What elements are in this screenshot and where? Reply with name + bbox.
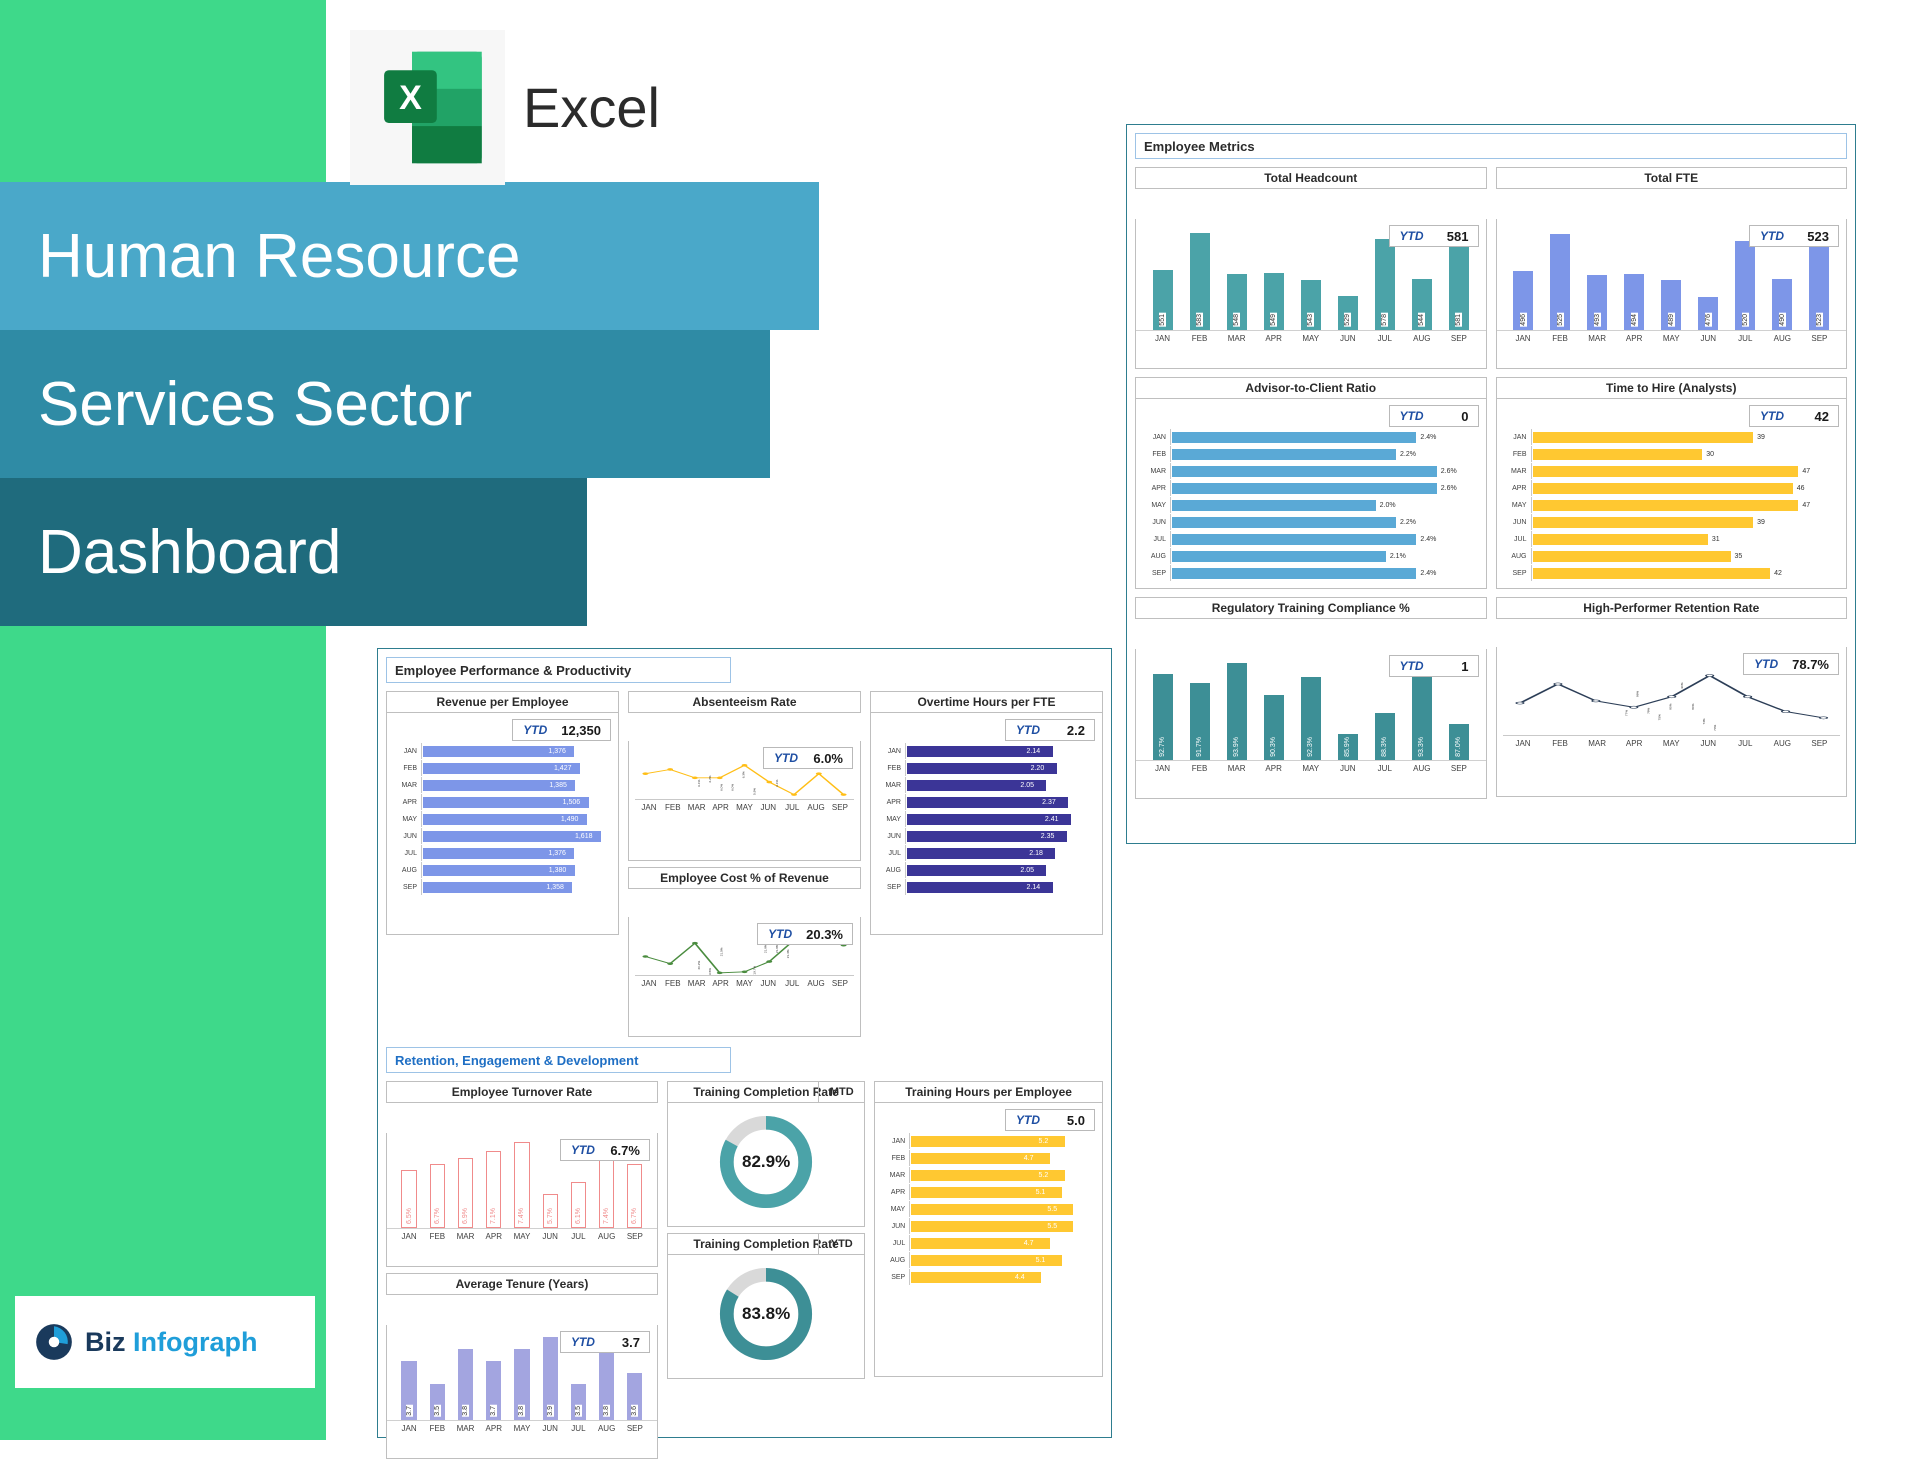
bar: 3.8 (458, 1349, 473, 1420)
ytd-badge: YTD 2.2 (1005, 719, 1095, 741)
bar-value-label: 5.1 (1036, 1189, 1046, 1196)
ytd-badge: YTD 0 (1389, 405, 1479, 427)
bar-value-label: 3.7 (490, 1405, 497, 1417)
bar-row: AUG 5.1 (881, 1252, 1094, 1268)
dashboard-title-line-2: Services Sector (0, 330, 770, 478)
chart-card-absenteeism-rate: Absenteeism Rate YTD 6.0% 6.1%6.2%6.0%6.… (628, 691, 861, 861)
chart-card-high-performer-retention-rate: High-Performer Retention Rate YTD 78.7% … (1496, 597, 1848, 799)
category-label: JAN (877, 748, 905, 755)
bar-value-label: 1,376 (548, 748, 566, 755)
bar-value-label: 87.0% (1455, 737, 1462, 757)
point-value-label: 6.2% (708, 775, 712, 782)
bar (1172, 568, 1416, 579)
bar: 3.5 (430, 1384, 445, 1420)
bar-column: 3.5 (425, 1325, 450, 1420)
chart-area: YTD 581 551 583 548 549 543 529 578 (1135, 219, 1487, 369)
bar: 92.7% (1153, 674, 1173, 760)
bar: 93.9% (1227, 663, 1247, 760)
bar-row: AUG 35 (1503, 548, 1839, 564)
point-value-label: 21.8% (775, 944, 779, 953)
x-axis-tick: MAR (453, 1232, 478, 1241)
bar-row: MAY 1,490 (393, 811, 610, 827)
x-axis: JANFEBMARAPRMAYJUNJULAUGSEP (629, 800, 860, 817)
category-label: JUL (1503, 536, 1531, 543)
bar-value-label: 7.1% (490, 1208, 497, 1224)
bar (1533, 534, 1708, 545)
bar-column: 91.7% (1183, 649, 1216, 760)
category-label: JAN (1503, 434, 1531, 441)
bar: 551 (1153, 270, 1173, 330)
excel-branding: X Excel (350, 30, 660, 185)
chart-title: Employee Cost % of Revenue (628, 867, 861, 889)
bar (1533, 483, 1793, 494)
bar (1533, 466, 1799, 477)
point-value-label: 19.5% (708, 968, 712, 975)
bar-row: SEP 42 (1503, 565, 1839, 581)
bar-track: 39 (1531, 514, 1839, 530)
category-label: MAR (877, 782, 905, 789)
bar-value-label: 3.9 (547, 1405, 554, 1417)
category-label: JAN (1142, 434, 1170, 441)
bar-row: JUL 2.18 (877, 845, 1094, 861)
bar-column: 92.3% (1294, 649, 1327, 760)
bars-container: JAN 1,376 FEB 1,427 MAR 1,385 APR 1,506 … (387, 713, 618, 900)
bars-container: JAN 39 FEB 30 MAR 47 APR 46 MAY (1497, 399, 1847, 586)
x-axis-tick: JUL (781, 803, 803, 812)
bar-value-label: 1,427 (554, 765, 572, 772)
category-label: MAY (1503, 502, 1531, 509)
point-value-label: 73% (1702, 718, 1706, 724)
category-label: MAR (881, 1172, 909, 1179)
bar-value-label: 47 (1802, 468, 1810, 475)
point-value-label: 80% (1668, 703, 1672, 709)
bar-track: 30 (1531, 446, 1839, 462)
bar: 494 (1624, 274, 1644, 330)
chart-area: YTD 6.7% 6.5% 6.7% 6.9% 7.1% 7.4% 5.7% 6… (386, 1133, 658, 1267)
chart-area: YTD 523 496 525 493 494 489 476 520 (1496, 219, 1848, 369)
bar: 3.8 (599, 1349, 614, 1420)
chart-card-advisor-to-client-ratio: Advisor-to-Client Ratio YTD 0 JAN 2.4% F… (1135, 377, 1487, 589)
x-axis-tick: APR (710, 803, 732, 812)
ytd-badge: YTD 5.0 (1005, 1109, 1095, 1131)
ytd-badge: YTD 6.7% (560, 1139, 650, 1161)
category-label: MAY (393, 816, 421, 823)
x-axis-tick: JAN (1146, 334, 1179, 343)
x-axis-tick: MAR (1580, 334, 1613, 343)
bar: 6.7% (430, 1164, 445, 1228)
bar-track: 31 (1531, 531, 1839, 547)
bar-column: 476 (1692, 219, 1725, 330)
category-label: SEP (877, 884, 905, 891)
bar-row: MAR 1,385 (393, 777, 610, 793)
x-axis-tick: MAY (509, 1232, 534, 1241)
x-axis-tick: MAY (1655, 334, 1688, 343)
bar-value-label: 7.4% (603, 1208, 610, 1224)
bar-track: 2.2% (1170, 514, 1478, 530)
bar-value-label: 548 (1233, 313, 1240, 327)
ytd-label: YTD (764, 751, 808, 765)
bar-row: JUN 5.5 (881, 1218, 1094, 1234)
bar-row: JUN 2.2% (1142, 514, 1478, 530)
ytd-label: YTD (1750, 229, 1794, 243)
x-axis-tick: MAY (1655, 739, 1688, 748)
ytd-badge: YTD 12,350 (512, 719, 611, 741)
point-value-label: 19.7% (753, 966, 757, 975)
x-axis-tick: JUN (538, 1424, 563, 1433)
bar-track: 35 (1531, 548, 1839, 564)
category-label: JUN (877, 833, 905, 840)
chart-title: Absenteeism Rate (628, 691, 861, 713)
ytd-badge: YTD 3.7 (560, 1331, 650, 1353)
category-label: FEB (877, 765, 905, 772)
bar-row: SEP 2.4% (1142, 565, 1478, 581)
donut-center-value: 83.8% (717, 1265, 815, 1363)
bar: 3.7 (486, 1361, 501, 1420)
chart-title: Training Completion Rate MTD (667, 1081, 865, 1103)
chart-card-time-to-hire-analysts: Time to Hire (Analysts) YTD 42 JAN 39 FE… (1496, 377, 1848, 589)
bar-value-label: 2.05 (1020, 782, 1034, 789)
x-axis-tick: MAY (1294, 334, 1327, 343)
x-axis: JANFEBMARAPRMAYJUNJULAUGSEP (387, 1229, 657, 1246)
bar-value-label: 3.8 (462, 1405, 469, 1417)
training-completion-stack: Training Completion Rate MTD 82.9% Train… (667, 1081, 865, 1459)
chart-card-training-completion-rate-ytd: Training Completion Rate YTD 83.8% (667, 1233, 865, 1379)
ytd-label: YTD (1744, 657, 1788, 671)
x-axis: JANFEBMARAPRMAYJUNJULAUGSEP (1497, 736, 1847, 753)
bar-value-label: 92.7% (1159, 737, 1166, 757)
bar-row: MAY 5.5 (881, 1201, 1094, 1217)
bar: 489 (1661, 280, 1681, 330)
chart-card-employee-turnover-rate: Employee Turnover Rate YTD 6.7% 6.5% 6.7… (386, 1081, 658, 1267)
title-line-1-text: Human Resource (0, 221, 520, 292)
x-axis-tick: JAN (396, 1424, 421, 1433)
bar: 3.5 (571, 1384, 586, 1420)
x-axis-tick: APR (1617, 334, 1650, 343)
x-axis-tick: JUN (1692, 334, 1725, 343)
bar: 88.3% (1375, 713, 1395, 760)
bar-track: 5.2 (909, 1133, 1094, 1149)
bar-track: 2.05 (905, 777, 1094, 793)
chart-card-overtime-hours-per-fte: Overtime Hours per FTE YTD 2.2 JAN 2.14 … (870, 691, 1103, 1037)
chart-title: Advisor-to-Client Ratio (1135, 377, 1487, 399)
bar-value-label: 543 (1307, 313, 1314, 327)
bar-row: JAN 2.4% (1142, 429, 1478, 445)
ytd-value: 20.3% (802, 927, 852, 942)
chart-title: Revenue per Employee (386, 691, 619, 713)
bar-column: 6.7% (425, 1133, 450, 1228)
bar-row: FEB 2.2% (1142, 446, 1478, 462)
logo-biz-text: Biz (85, 1327, 126, 1357)
bar-track: 2.05 (905, 862, 1094, 878)
bar-value-label: 1,385 (549, 782, 567, 789)
x-axis-tick: JAN (638, 803, 660, 812)
bar-row: JUL 1,376 (393, 845, 610, 861)
bar-value-label: 3.6 (631, 1405, 638, 1417)
ytd-badge: YTD 42 (1749, 405, 1839, 427)
ytd-badge: YTD 6.0% (763, 747, 853, 769)
bar-row: FEB 2.20 (877, 760, 1094, 776)
bar-value-label: 2.20 (1031, 765, 1045, 772)
bar-value-label: 92.3% (1307, 737, 1314, 757)
point-value-label: 6.0% (719, 784, 723, 791)
bar-value-label: 2.35 (1041, 833, 1055, 840)
bar-value-label: 2.2% (1400, 519, 1416, 526)
x-axis-tick: AUG (594, 1232, 619, 1241)
category-label: JUL (1142, 536, 1170, 543)
x-axis-tick: JUN (1331, 334, 1364, 343)
bar-value-label: 6.5% (406, 1208, 413, 1224)
x-axis-tick: SEP (829, 979, 851, 988)
chart-card-revenue-per-employee: Revenue per Employee YTD 12,350 JAN 1,37… (386, 691, 619, 1037)
bar-value-label: 1,376 (548, 850, 566, 857)
pie-logo-icon (33, 1321, 75, 1363)
bar-row: APR 46 (1503, 480, 1839, 496)
x-axis-tick: JUL (1729, 739, 1762, 748)
bar-value-label: 90.3% (1270, 737, 1277, 757)
bar-value-label: 3.8 (603, 1405, 610, 1417)
bar-column: 494 (1617, 219, 1650, 330)
bar-value-label: 93.9% (1233, 737, 1240, 757)
x-axis-tick: AUG (1405, 334, 1438, 343)
bar-track: 1,427 (421, 760, 610, 776)
bar-value-label: 88.3% (1381, 737, 1388, 757)
category-label: JUL (393, 850, 421, 857)
ytd-badge: YTD 581 (1389, 225, 1479, 247)
category-label: APR (1142, 485, 1170, 492)
bar-value-label: 2.2% (1400, 451, 1416, 458)
bar-row: MAR 47 (1503, 463, 1839, 479)
bar-row: MAY 47 (1503, 497, 1839, 513)
bar-track: 2.4% (1170, 565, 1478, 581)
bar-track: 5.1 (909, 1252, 1094, 1268)
ytd-value: 12,350 (557, 723, 610, 738)
x-axis: JANFEBMARAPRMAYJUNJULAUGSEP (629, 976, 860, 993)
bar-column: 529 (1331, 219, 1364, 330)
x-axis-tick: FEB (1543, 739, 1576, 748)
bar (1533, 568, 1771, 579)
ytd-label: YTD (1390, 659, 1434, 673)
bar-column: 6.9% (453, 1133, 478, 1228)
retention-section-title: Retention, Engagement & Development (395, 1053, 638, 1068)
x-axis-tick: SEP (1803, 334, 1836, 343)
bar-row: JUL 2.4% (1142, 531, 1478, 547)
x-axis-tick: JAN (1146, 764, 1179, 773)
point-value-label: 75% (1657, 714, 1661, 720)
category-label: JUN (393, 833, 421, 840)
bar-track: 47 (1531, 497, 1839, 513)
point-value-label: 77% (1624, 710, 1628, 716)
ytd-value: 1 (1434, 659, 1478, 674)
bar-row: JAN 1,376 (393, 743, 610, 759)
bar-column: 489 (1655, 219, 1688, 330)
chart-card-total-headcount: Total Headcount YTD 581 551 583 548 549 … (1135, 167, 1487, 369)
ytd-value: 3.7 (605, 1335, 649, 1350)
bar-track: 2.14 (905, 743, 1094, 759)
x-axis-tick: JUL (1729, 334, 1762, 343)
x-axis-tick: FEB (425, 1424, 450, 1433)
bar: 3.8 (514, 1349, 529, 1420)
bar-value-label: 5.7% (547, 1208, 554, 1224)
bar-track: 2.4% (1170, 531, 1478, 547)
chart-area: YTD 3.7 3.7 3.5 3.8 3.7 3.8 3.9 3.5 (386, 1325, 658, 1459)
bar (1172, 466, 1437, 477)
bar: 544 (1412, 279, 1432, 330)
category-label: MAY (877, 816, 905, 823)
chart-title: High-Performer Retention Rate (1496, 597, 1848, 619)
bar (1172, 432, 1416, 443)
bar-value-label: 39 (1757, 434, 1765, 441)
bars-container: JAN 2.4% FEB 2.2% MAR 2.6% APR 2.6% MAY (1136, 399, 1486, 586)
bar-track: 2.0% (1170, 497, 1478, 513)
bar-value-label: 1,618 (575, 833, 593, 840)
bar-value-label: 93.3% (1418, 737, 1425, 757)
bar-track: 2.37 (905, 794, 1094, 810)
x-axis-tick: AUG (1766, 334, 1799, 343)
bar-value-label: 2.1% (1390, 553, 1406, 560)
bar-column: 93.9% (1220, 649, 1253, 760)
chart-area: YTD 6.0% 6.1%6.2%6.0%6.0%6.3%5.9%5.6%6.1… (628, 741, 861, 861)
ytd-label: YTD (1390, 409, 1434, 423)
chart-area: YTD 42 JAN 39 FEB 30 MAR 47 APR 46 MAY (1496, 399, 1848, 589)
bar-column: 548 (1220, 219, 1253, 330)
bar-column: 7.1% (481, 1133, 506, 1228)
x-axis-tick: JUL (1368, 334, 1401, 343)
performance-section-header: Employee Performance & Productivity (386, 657, 731, 683)
x-axis-tick: JUN (1331, 764, 1364, 773)
x-axis-tick: SEP (622, 1232, 647, 1241)
bar: 3.9 (543, 1337, 558, 1420)
x-axis-tick: MAR (453, 1424, 478, 1433)
category-label: JAN (881, 1138, 909, 1145)
point-value-label: 6.1% (697, 779, 701, 786)
category-label: FEB (1142, 451, 1170, 458)
x-axis: JANFEBMARAPRMAYJUNJULAUGSEP (1497, 331, 1847, 348)
x-axis-tick: AUG (805, 979, 827, 988)
point-value-label: 78% (1646, 707, 1650, 713)
bar-value-label: 7.4% (518, 1208, 525, 1224)
bar (1172, 449, 1396, 460)
category-label: APR (881, 1189, 909, 1196)
bar-value-label: 1,358 (546, 884, 564, 891)
x-axis-tick: JUN (758, 803, 780, 812)
bar-track: 4.4 (909, 1269, 1094, 1285)
x-axis-tick: JAN (396, 1232, 421, 1241)
bar (1172, 551, 1386, 562)
x-axis-tick: JUN (758, 979, 780, 988)
chart-area: YTD 0 JAN 2.4% FEB 2.2% MAR 2.6% APR 2.6… (1135, 399, 1487, 589)
bar: 3.7 (401, 1361, 416, 1420)
bar-column: 92.7% (1146, 649, 1179, 760)
bar-value-label: 2.6% (1441, 485, 1457, 492)
bar-track: 2.6% (1170, 480, 1478, 496)
x-axis-tick: FEB (1183, 334, 1216, 343)
bar-row: AUG 1,380 (393, 862, 610, 878)
bar-value-label: 520 (1742, 313, 1749, 327)
point-value-label: 21.3% (786, 949, 790, 958)
bar-value-label: 2.4% (1420, 434, 1436, 441)
bar-value-label: 5.5 (1047, 1223, 1057, 1230)
bar: 85.9% (1338, 734, 1358, 760)
bar-value-label: 4.7 (1024, 1240, 1034, 1247)
category-label: JUN (1142, 519, 1170, 526)
x-axis-tick: APR (481, 1424, 506, 1433)
employee-metrics-header: Employee Metrics (1135, 133, 1847, 159)
bar-value-label: 6.7% (631, 1208, 638, 1224)
bar: 6.9% (458, 1158, 473, 1228)
biz-infograph-logo: Biz Infograph (15, 1296, 315, 1388)
ytd-value: 0 (1434, 409, 1478, 424)
category-label: APR (877, 799, 905, 806)
ytd-value: 6.7% (605, 1143, 649, 1158)
bar: 548 (1227, 274, 1247, 330)
bar-value-label: 2.37 (1042, 799, 1056, 806)
turnover-tenure-stack: Employee Turnover Rate YTD 6.7% 6.5% 6.7… (386, 1081, 658, 1459)
chart-card-training-hours-per-employee: Training Hours per Employee YTD 5.0 JAN … (874, 1081, 1103, 1459)
category-label: MAY (1142, 502, 1170, 509)
bar-row: JAN 2.14 (877, 743, 1094, 759)
bar-track: 46 (1531, 480, 1839, 496)
ytd-label: YTD (758, 927, 802, 941)
ytd-label: YTD (561, 1335, 605, 1349)
bar-track: 5.5 (909, 1201, 1094, 1217)
bar-track: 1,376 (421, 743, 610, 759)
chart-area: YTD 20.3% 20.2%19.5%21.5%18.6%18.7%19.7%… (628, 917, 861, 1037)
ytd-label: YTD (1750, 409, 1794, 423)
bar-track: 2.1% (1170, 548, 1478, 564)
bar-row: APR 5.1 (881, 1184, 1094, 1200)
bar-value-label: 35 (1735, 553, 1743, 560)
x-axis-tick: APR (1257, 764, 1290, 773)
bar-value-label: 3.5 (575, 1405, 582, 1417)
point-value-label: 6.1% (775, 779, 779, 786)
bar-track: 2.2% (1170, 446, 1478, 462)
bar-column: 543 (1294, 219, 1327, 330)
bar-column: 549 (1257, 219, 1290, 330)
bar-value-label: 5.5 (1047, 1206, 1057, 1213)
chart-area: YTD 12,350 JAN 1,376 FEB 1,427 MAR 1,385… (386, 713, 619, 935)
category-label: MAR (393, 782, 421, 789)
bar: 581 (1449, 235, 1469, 330)
bar-track: 1,618 (421, 828, 610, 844)
x-axis-tick: MAY (734, 803, 756, 812)
category-label: APR (393, 799, 421, 806)
bar-row: JUN 39 (1503, 514, 1839, 530)
bar-column: 85.9% (1331, 649, 1364, 760)
x-axis: JANFEBMARAPRMAYJUNJULAUGSEP (1136, 761, 1486, 778)
category-label: SEP (393, 884, 421, 891)
bar-value-label: 2.4% (1420, 536, 1436, 543)
bar-value-label: 1,490 (561, 816, 579, 823)
bar-track: 5.1 (909, 1184, 1094, 1200)
bar-value-label: 2.05 (1020, 867, 1034, 874)
x-axis-tick: SEP (622, 1424, 647, 1433)
svg-text:X: X (399, 79, 422, 117)
bar-value-label: 31 (1712, 536, 1720, 543)
bar (1533, 517, 1754, 528)
bar: 520 (1735, 241, 1755, 330)
chart-title: Average Tenure (Years) (386, 1273, 658, 1295)
chart-card-average-tenure-years: Average Tenure (Years) YTD 3.7 3.7 3.5 3… (386, 1273, 658, 1459)
x-axis-tick: FEB (662, 803, 684, 812)
bar-column: 496 (1506, 219, 1539, 330)
bar: 549 (1264, 273, 1284, 330)
bar-row: FEB 4.7 (881, 1150, 1094, 1166)
donut-container: 83.8% (668, 1255, 864, 1373)
title-line-2-text: Services Sector (0, 369, 472, 440)
bar-value-label: 2.0% (1380, 502, 1396, 509)
chart-card-regulatory-training-compliance: Regulatory Training Compliance % YTD 1 9… (1135, 597, 1487, 799)
bar-value-label: 91.7% (1196, 737, 1203, 757)
